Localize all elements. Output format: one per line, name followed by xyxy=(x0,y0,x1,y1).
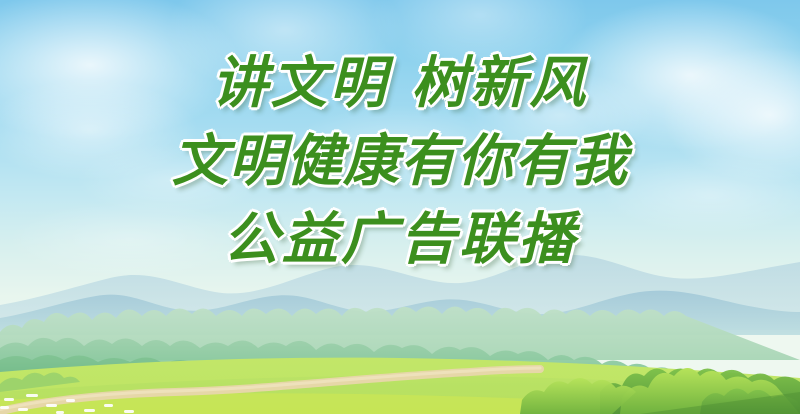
headline-line-1: 讲文明 树新风 xyxy=(0,56,800,112)
poster-canvas: 讲文明 树新风 文明健康有你有我 公益广告联播 xyxy=(0,0,800,414)
headline-block: 讲文明 树新风 文明健康有你有我 公益广告联播 xyxy=(0,56,800,280)
headline-line-2: 文明健康有你有我 xyxy=(0,134,800,190)
headline-line-3: 公益广告联播 xyxy=(0,212,800,268)
